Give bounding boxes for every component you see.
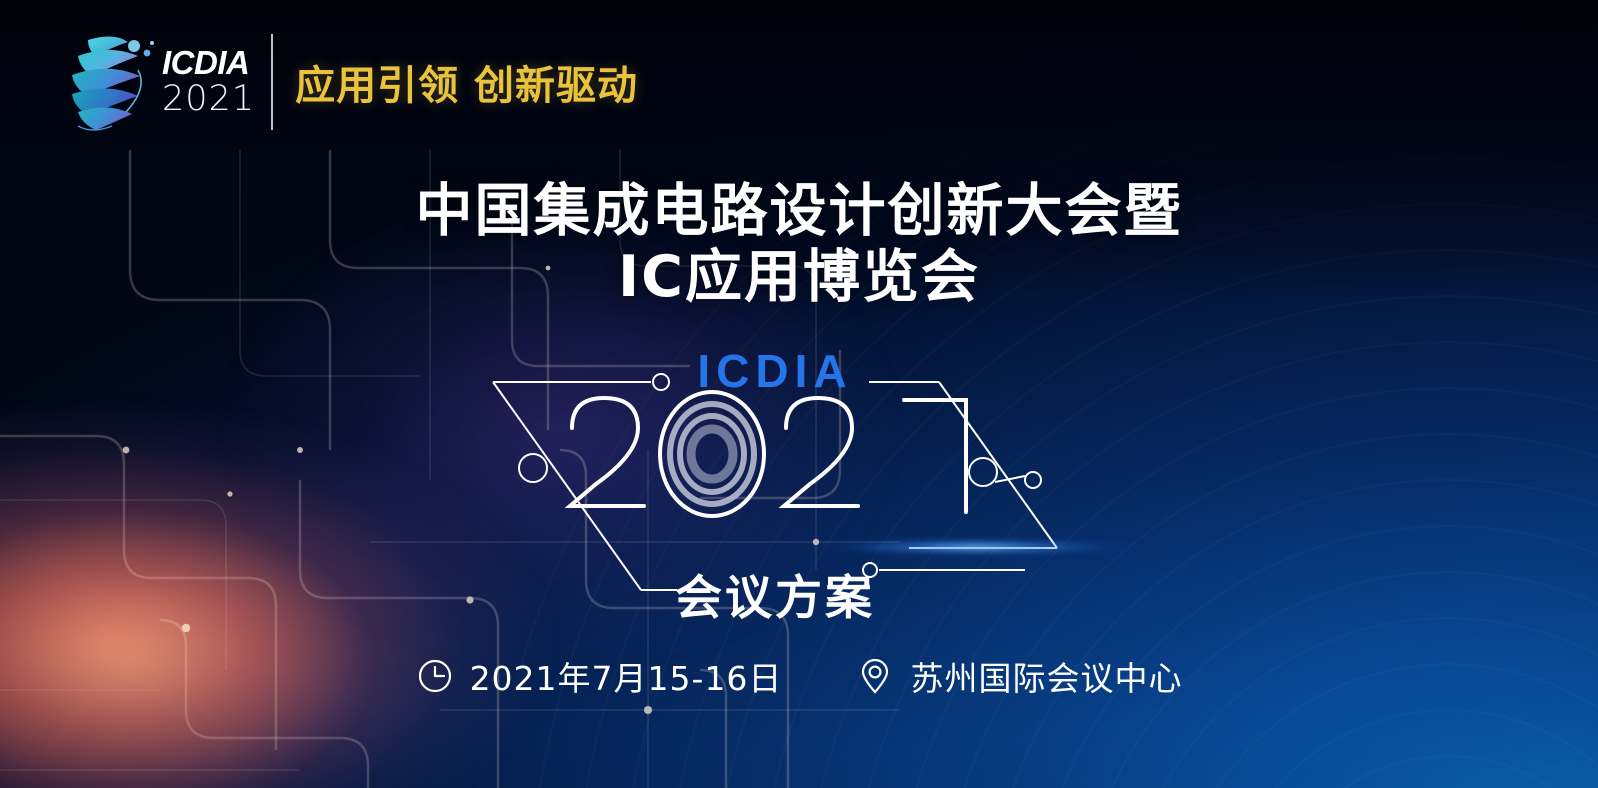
brand-wordmark: ICDIA 2021 bbox=[162, 40, 255, 124]
emblem-light-streak bbox=[765, 536, 1185, 558]
location-pin-icon bbox=[856, 657, 894, 695]
brand-slogan: 应用引领 创新驱动 bbox=[295, 53, 638, 111]
event-emblem: ICDIA 会议方案 bbox=[465, 340, 1085, 630]
event-date-text: 2021年7月15-16日 bbox=[470, 652, 783, 700]
header-divider bbox=[271, 34, 273, 130]
emblem-subtitle: 会议方案 bbox=[465, 559, 1085, 628]
event-venue-text: 苏州国际会议中心 bbox=[910, 652, 1182, 700]
conference-banner: ICDIA 2021 应用引领 创新驱动 中国集成电路设计创新大会暨 IC应用博… bbox=[0, 0, 1598, 788]
clock-icon bbox=[416, 657, 454, 695]
wordmark-icdia: ICDIA bbox=[162, 46, 255, 79]
title-line-2: IC应用博览会 bbox=[0, 244, 1598, 310]
event-meta: 2021年7月15-16日 苏州国际会议中心 bbox=[0, 652, 1598, 700]
page-title: 中国集成电路设计创新大会暨 IC应用博览会 bbox=[0, 178, 1598, 310]
emblem-year-graphic bbox=[560, 388, 990, 528]
wordmark-year: 2021 bbox=[162, 81, 255, 118]
event-date: 2021年7月15-16日 bbox=[416, 652, 783, 700]
event-venue: 苏州国际会议中心 bbox=[856, 652, 1182, 700]
brand-header: ICDIA 2021 应用引领 创新驱动 bbox=[52, 24, 638, 140]
title-line-1: 中国集成电路设计创新大会暨 bbox=[416, 178, 1183, 244]
globe-icon bbox=[52, 26, 156, 138]
